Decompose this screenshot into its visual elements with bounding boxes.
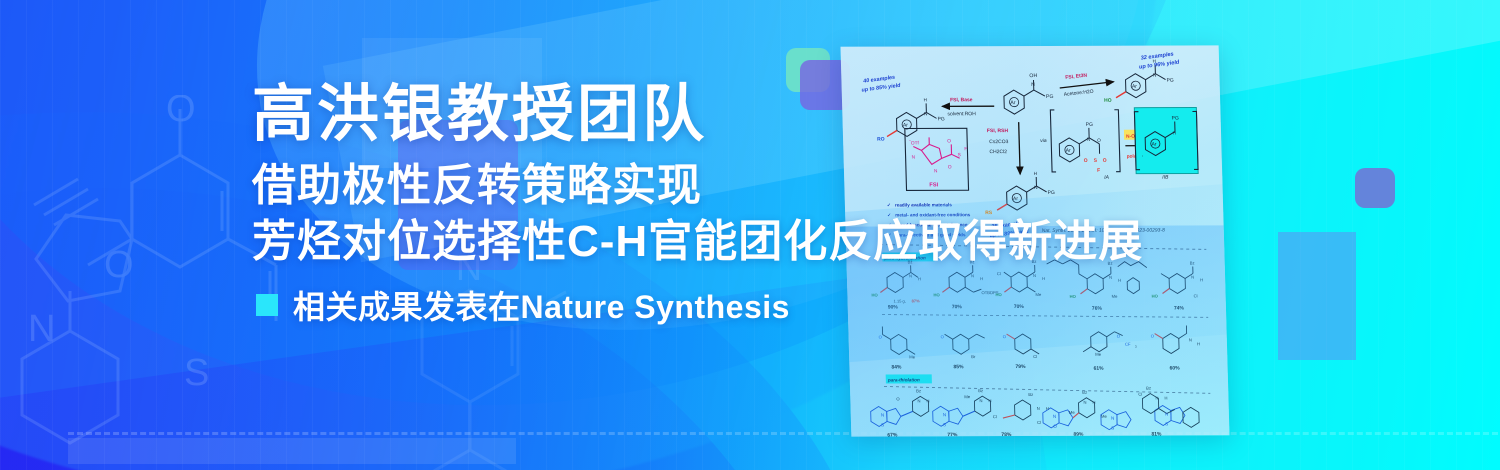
svg-text:PG: PG [1172, 116, 1180, 122]
callout-yield-1: up to 96% yield [1139, 60, 1181, 71]
svg-text:S: S [1111, 426, 1114, 431]
subtitle-line-1: 借助极性反转策略实现 [252, 159, 1143, 213]
svg-text:S: S [1165, 421, 1168, 426]
svg-text:Cl: Cl [1037, 420, 1041, 425]
page-title: 高洪银教授团队 [252, 82, 1143, 147]
svg-text:H: H [926, 398, 929, 403]
svg-text:Bz: Bz [916, 388, 921, 393]
svg-text:Cl: Cl [1194, 293, 1198, 298]
decor-violet-rectangle-right [1278, 232, 1356, 360]
arrow-right-top-label: FSI, Et3N [1065, 73, 1088, 81]
watermark-atom-o: O [166, 95, 196, 130]
svg-text:Ar: Ar [1151, 142, 1157, 148]
svg-text:H: H [1173, 131, 1176, 136]
watermark-atom-s: S [184, 352, 209, 394]
subtitle-line-2: 芳烃对位选择性C-H官能团化反应取得新进展 [252, 215, 1143, 269]
scope-yield-r2-4: 60% [1170, 365, 1181, 371]
scope-yield-r3-2: 78% [1001, 432, 1012, 437]
svg-text:N: N [881, 412, 884, 417]
svg-text:N: N [1153, 73, 1157, 79]
watermark-atom-o2: O [104, 244, 134, 286]
svg-text:PG: PG [1166, 78, 1174, 84]
svg-text:H: H [1092, 400, 1095, 405]
scope-yield-r3-4: 81% [1151, 432, 1162, 437]
svg-text:Me: Me [1101, 414, 1108, 419]
scope-yield-r3-0: 67% [887, 432, 898, 436]
bottom-dashed-rule [68, 432, 1498, 435]
section-label-1: para-thiolation [887, 377, 920, 382]
svg-text:S: S [881, 422, 884, 427]
svg-text:N: N [1053, 414, 1056, 419]
svg-text:O: O [941, 334, 945, 339]
svg-text:O: O [1151, 334, 1155, 339]
svg-text:OH: OH [1029, 73, 1037, 79]
svg-text:Cl: Cl [1033, 354, 1037, 359]
scope-yield-r2-0: 84% [891, 364, 902, 370]
svg-text:N: N [1189, 337, 1192, 342]
svg-text:N: N [943, 412, 946, 417]
svg-text:H: H [988, 398, 991, 403]
svg-text:H: H [1164, 395, 1167, 400]
svg-text:N: N [979, 398, 982, 403]
headline-group: 高洪银教授团队 借助极性反转策略实现 芳烃对位选择性C-H官能团化反应取得新进展… [252, 82, 1143, 328]
svg-text:O: O [1053, 424, 1057, 429]
svg-text:H: H [1046, 406, 1049, 411]
svg-text:O: O [1003, 334, 1007, 339]
svg-text:O: O [879, 335, 883, 340]
scope-yield-r2-1: 85% [953, 364, 964, 370]
svg-text:H: H [1197, 341, 1200, 346]
svg-text:N: N [917, 398, 920, 403]
svg-text:N: N [1165, 411, 1168, 416]
scope-yield-r2-3: 61% [1094, 366, 1105, 372]
product-label: IIB [1162, 175, 1169, 181]
scope-yield-r3-1: 77% [947, 432, 958, 436]
svg-text:Bz: Bz [1190, 260, 1195, 265]
svg-text:Me: Me [1069, 410, 1076, 415]
svg-text:N: N [1111, 416, 1114, 421]
tagline-row: 相关成果发表在Nature Synthesis [256, 282, 1143, 328]
svg-text:Bz: Bz [1146, 386, 1151, 391]
svg-text:Cl: Cl [1138, 392, 1142, 397]
decor-purple-square-right [1355, 168, 1395, 208]
svg-text:O: O [896, 396, 900, 401]
svg-text:N: N [1037, 406, 1040, 411]
svg-text:S: S [943, 422, 946, 427]
svg-text:Me: Me [1095, 352, 1102, 357]
svg-text:HO: HO [1152, 294, 1159, 299]
svg-text:Me: Me [964, 394, 971, 399]
square-bullet-icon [256, 294, 278, 316]
svg-text:Br: Br [971, 354, 976, 359]
svg-text:N: N [1083, 400, 1086, 405]
tagline-text: 相关成果发表在Nature Synthesis [293, 282, 790, 328]
banner-root: O O N S N O [0, 0, 1500, 470]
svg-text:Bz: Bz [1082, 390, 1087, 395]
bottom-accent-bar [68, 438, 516, 464]
svg-text:Bz: Bz [978, 388, 983, 393]
svg-text:H: H [1200, 277, 1203, 282]
svg-text:3: 3 [1135, 345, 1137, 349]
scope-yield-r2-2: 79% [1015, 364, 1026, 370]
svg-text:CF: CF [1125, 342, 1131, 347]
scope-yield-r3-3: 89% [1073, 432, 1084, 437]
scope-yield-r1-4: 74% [1174, 305, 1185, 311]
svg-text:Bz: Bz [1028, 392, 1033, 397]
svg-text:Me: Me [909, 354, 916, 359]
watermark-atom-n: N [28, 308, 55, 350]
svg-text:N: N [1155, 396, 1158, 401]
svg-text:Cl: Cl [993, 414, 997, 419]
svg-text:N: N [1191, 274, 1194, 279]
